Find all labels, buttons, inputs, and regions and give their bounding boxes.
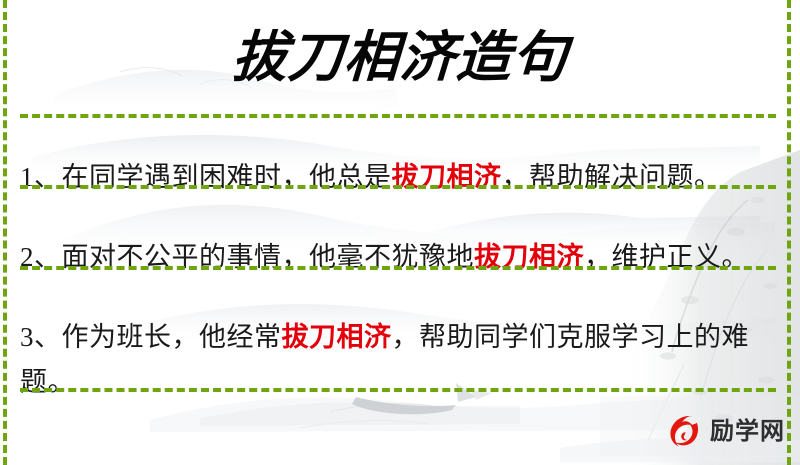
page-title: 拔刀相济造句 — [0, 22, 800, 92]
divider-after-sentence-2 — [20, 266, 776, 270]
watermark-logo: 励学网 — [666, 412, 785, 450]
example-sentence-2: 2、面对不公平的事情，他毫不犹豫地拔刀相济，维护正义。 — [20, 235, 778, 280]
sentence-3-index: 3、 — [20, 322, 62, 352]
red-swirl-flame-icon — [666, 412, 704, 450]
divider-bottom — [20, 388, 776, 392]
watermark-brand-text: 励学网 — [710, 412, 785, 450]
sentence-3-before: 作为班长，他经常 — [62, 322, 282, 352]
divider-after-sentence-1 — [20, 185, 776, 189]
example-sentence-1: 1、在同学遇到困难时，他总是拔刀相济，帮助解决问题。 — [20, 155, 778, 200]
sentence-example-card: 拔刀相济造句 1、在同学遇到困难时，他总是拔刀相济，帮助解决问题。 2、面对不公… — [0, 0, 800, 465]
sentence-3-keyword: 拔刀相济 — [282, 322, 392, 352]
divider-top — [20, 114, 776, 118]
